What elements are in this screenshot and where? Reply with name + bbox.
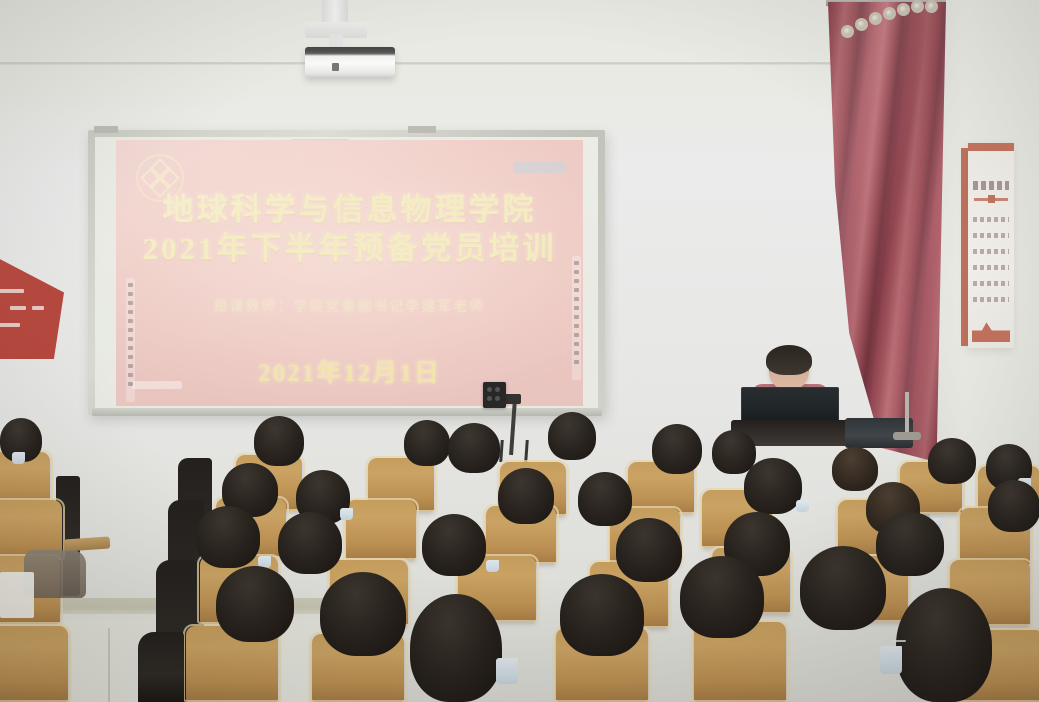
microphone-base [893,432,921,440]
mask-strap [892,640,906,642]
slide-ui-chip [513,162,565,173]
curtain-grommet-icon [925,0,938,13]
audience-head [560,574,644,656]
projected-slide: 地球科学与信息物理学院 2021年下半年预备党员培训 授课教师：学院党委副书记李… [116,140,583,406]
banner-text-line [10,306,26,310]
camera-lens-icon [495,396,500,401]
audience-head [988,480,1039,532]
whiteboard-surface: 地球科学与信息物理学院 2021年下半年预备党员培训 授课教师：学院党委副书记李… [95,137,598,408]
face-mask [340,508,353,520]
microphone-stand [905,392,909,436]
audience-head [680,556,764,638]
camera-lens-icon [487,387,492,392]
poster-title-text [973,181,1009,190]
slide-date: 2021年12月1日 [116,353,583,389]
laptop-screen[interactable] [741,387,839,422]
audience-head [404,420,450,466]
audience-head [548,412,596,460]
banner-text-line [0,289,24,293]
poster-divider [974,198,1008,201]
face-mask [486,560,499,572]
paper-sheet [0,572,34,618]
slide-title-line-2: 2021年下半年预备党员培训 [116,223,583,268]
tripod-legs [499,440,529,462]
audience-head [410,594,502,702]
whiteboard-tool-strip-left[interactable] [126,278,135,402]
interactive-whiteboard[interactable]: 地球科学与信息物理学院 2021年下半年预备党员培训 授课教师：学院党委副书记李… [88,130,605,415]
poster-body-text [973,217,1009,313]
audience-head [800,546,886,630]
audience-head [896,588,992,702]
audience-head [712,430,756,474]
poster-header-band [968,143,1014,151]
presenter-hair [766,345,812,375]
wall-poster-right [968,143,1014,348]
slide-subtitle: 授课教师：学院党委副书记李建军老师 [116,296,583,316]
audience-head [448,423,500,473]
face-mask [796,500,809,512]
audience-head [652,424,702,474]
curtain-grommet-icon [841,25,854,38]
curtain-grommet-icon [897,3,910,16]
audience-head [216,566,294,642]
audience-head [744,458,802,514]
camera-lens-icon [495,387,500,392]
audience-head [578,472,632,526]
audience-head [278,512,342,574]
seat-back[interactable] [346,500,416,560]
audience-head [320,572,406,656]
audience-head [196,506,260,568]
audience-head [254,416,304,466]
floor-seam [108,628,110,702]
smartphone-on-tripod[interactable] [483,382,506,408]
seat-side-panel [138,632,184,702]
audience-head [832,447,878,491]
audience-head [498,468,554,524]
banner-text-line [32,306,44,310]
seat-back[interactable] [0,626,68,702]
audience-head [928,438,976,484]
audience-head [876,512,944,576]
curtain-grommet-icon [855,18,868,31]
projector-lens-icon [332,63,339,71]
curtain-grommet-icon [911,0,924,13]
face-mask [496,658,518,684]
curtain-grommet-icon [869,12,882,25]
camera-lens-icon [487,396,492,401]
poster-house-icon [972,318,1010,342]
face-mask [880,646,902,674]
ceiling-projector [305,47,395,77]
whiteboard-tool-strip-right[interactable] [572,256,581,380]
face-mask [12,452,25,464]
whiteboard-bottom-tray [92,408,602,416]
curtain-grommet-icon [883,7,896,20]
banner-text-line [0,323,20,327]
lecture-hall-photo: 地球科学与信息物理学院 2021年下半年预备党员培训 授课教师：学院党委副书记李… [0,0,1039,702]
audience-head [422,514,486,576]
audience-head [616,518,682,582]
